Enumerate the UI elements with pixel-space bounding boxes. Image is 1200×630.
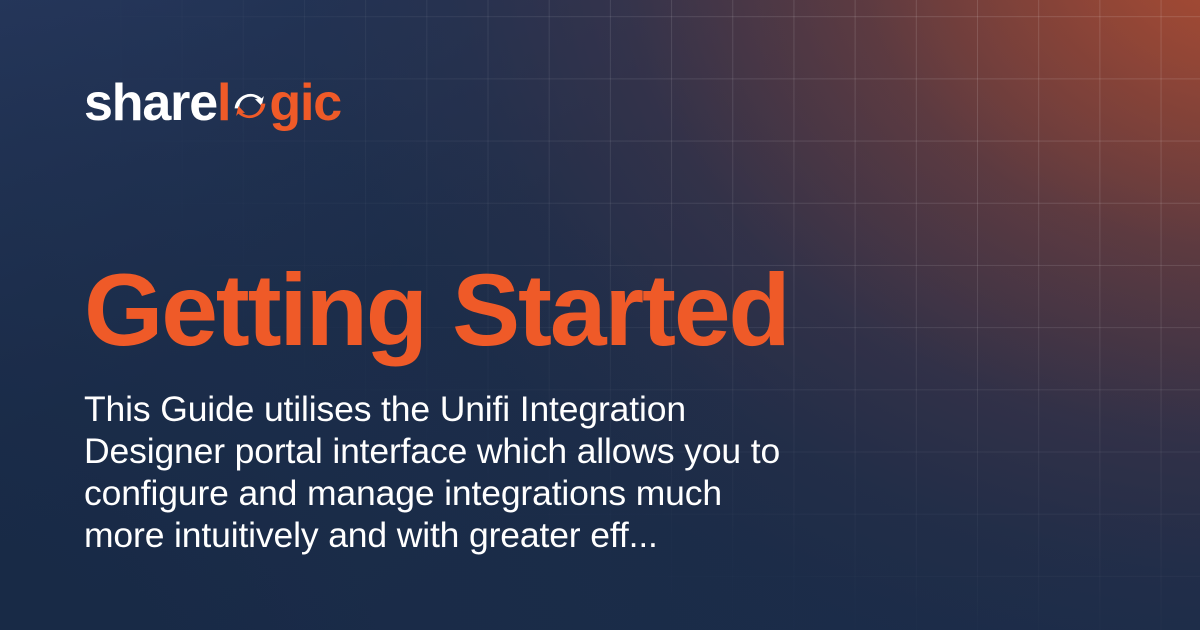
sync-refresh-icon (232, 88, 268, 124)
logo-text-l: l (217, 77, 230, 129)
summary-line: This Guide utilises the Unifi Integratio… (84, 388, 874, 430)
logo-text-gic: gic (269, 77, 341, 129)
page-summary: This Guide utilises the Unifi Integratio… (84, 388, 874, 556)
logo-text-share: share (84, 77, 217, 129)
summary-line: Designer portal interface which allows y… (84, 430, 874, 472)
summary-line: configure and manage integrations much (84, 472, 874, 514)
page-title: Getting Started (84, 258, 789, 362)
summary-line: more intuitively and with greater eff... (84, 514, 874, 556)
sharelogic-logo[interactable]: share l gic (84, 77, 341, 129)
social-share-card: share l gic Getting Started This Guide u… (0, 0, 1200, 630)
